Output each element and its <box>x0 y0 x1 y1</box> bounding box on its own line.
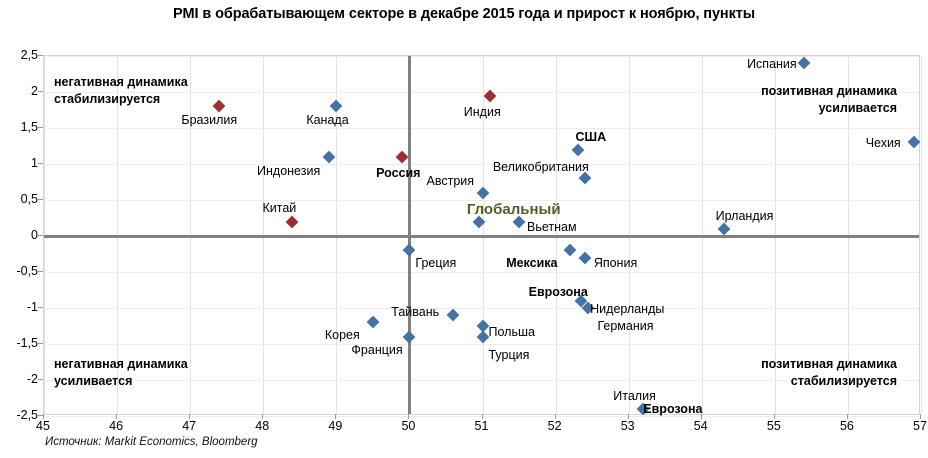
data-point-label: Китай <box>262 202 296 215</box>
x-axis-tick-mark <box>847 414 848 419</box>
data-point-label: Франция <box>351 344 402 357</box>
y-axis-tick-mark <box>38 199 43 200</box>
data-point-label: Великобритания <box>493 161 589 174</box>
data-point-label: Тайвань <box>391 306 439 319</box>
data-point-label: США <box>576 131 607 144</box>
horizontal-reference-line-zero <box>44 235 919 238</box>
y-axis-tick-label: 2,5 <box>0 48 38 62</box>
y-axis-tick-mark <box>38 271 43 272</box>
quad-top-left-line2: стабилизируется <box>54 91 188 108</box>
y-axis-tick-label: 1,5 <box>0 120 38 134</box>
y-axis-tick-mark <box>38 343 43 344</box>
data-point-label: Еврозона <box>643 403 702 416</box>
x-axis-tick-label: 45 <box>36 419 50 433</box>
x-axis-tick-label: 56 <box>840 419 854 433</box>
data-point-label: Польша <box>489 326 535 339</box>
data-point-label: Нидерланды <box>590 303 664 316</box>
quad-bottom-left-line2: усиливается <box>54 373 188 390</box>
x-axis-tick-mark <box>43 414 44 419</box>
data-point-label: Австрия <box>427 175 475 188</box>
data-point-label: Индонезия <box>257 165 320 178</box>
y-axis-tick-label: -0,5 <box>0 264 38 278</box>
x-axis-tick-label: 52 <box>548 419 562 433</box>
data-point-label: Мексика <box>506 257 557 270</box>
data-point-label-eurozone: Еврозона <box>529 286 588 299</box>
data-point-label: Чехия <box>866 137 901 150</box>
x-axis-tick-label: 53 <box>621 419 635 433</box>
data-point-label: Германия <box>597 320 653 333</box>
quad-bottom-right-line2: стабилизируется <box>761 373 897 390</box>
data-point-label: Ирландия <box>716 210 774 223</box>
y-axis-tick-mark <box>38 127 43 128</box>
x-axis-tick-mark <box>262 414 263 419</box>
x-axis-tick-mark <box>335 414 336 419</box>
data-point-label: Бразилия <box>181 114 237 127</box>
y-axis-tick-mark <box>38 307 43 308</box>
data-point-label: Индия <box>464 106 501 119</box>
quad-top-right: позитивная динамикаусиливается <box>761 83 897 117</box>
x-axis-tick-mark <box>408 414 409 419</box>
data-point-label: Испания <box>747 58 797 71</box>
quad-bottom-right: позитивная динамикастабилизируется <box>761 356 897 390</box>
y-axis-tick-label: 0 <box>0 228 38 242</box>
x-axis-tick-label: 49 <box>328 419 342 433</box>
data-point-label: Италия <box>613 390 656 403</box>
y-axis-tick-mark <box>38 163 43 164</box>
data-point-label: Япония <box>594 257 637 270</box>
y-axis-tick-label: -2 <box>0 372 38 386</box>
x-axis-tick-label: 54 <box>694 419 708 433</box>
x-axis-tick-label: 55 <box>767 419 781 433</box>
y-axis-tick-label: -1 <box>0 300 38 314</box>
data-point-label: Россия <box>376 167 420 180</box>
data-point-label: Турция <box>489 349 530 362</box>
x-axis-tick-label: 51 <box>475 419 489 433</box>
quad-top-right-line1: позитивная динамика <box>761 83 897 100</box>
y-axis-tick-mark <box>38 235 43 236</box>
data-point-label: Вьетнам <box>527 221 577 234</box>
x-axis-tick-mark <box>189 414 190 419</box>
quad-bottom-left-line1: негативная динамика <box>54 356 188 373</box>
x-axis-tick-mark <box>628 414 629 419</box>
x-axis-tick-mark <box>482 414 483 419</box>
x-axis-tick-label: 48 <box>255 419 269 433</box>
quad-top-left-line1: негативная динамика <box>54 74 188 91</box>
data-point-label: Корея <box>325 329 360 342</box>
data-point-label: Греция <box>415 257 456 270</box>
quad-top-left: негативная динамикастабилизируется <box>54 74 188 108</box>
y-axis-tick-label: 0,5 <box>0 192 38 206</box>
y-axis-tick-mark <box>38 55 43 56</box>
quad-bottom-left: негативная динамикаусиливается <box>54 356 188 390</box>
y-axis-tick-mark <box>38 379 43 380</box>
x-axis-tick-mark <box>555 414 556 419</box>
x-axis-tick-label: 50 <box>401 419 415 433</box>
data-point-label: Канада <box>306 114 348 127</box>
y-axis-tick-label: 2 <box>0 84 38 98</box>
x-axis-tick-mark <box>774 414 775 419</box>
quad-top-right-line2: усиливается <box>761 100 897 117</box>
source-note: Источник: Markit Economics, Bloomberg <box>45 436 258 448</box>
x-axis-tick-mark <box>116 414 117 419</box>
y-axis-tick-label: 1 <box>0 156 38 170</box>
x-axis-tick-label: 46 <box>109 419 123 433</box>
y-axis-tick-mark <box>38 91 43 92</box>
y-axis-tick-label: -2,5 <box>0 408 38 422</box>
x-axis-tick-mark <box>920 414 921 419</box>
data-point-label: Глобальный <box>467 202 561 217</box>
x-axis-tick-label: 47 <box>182 419 196 433</box>
quad-bottom-right-line1: позитивная динамика <box>761 356 897 373</box>
x-axis-tick-label: 57 <box>913 419 927 433</box>
y-axis-tick-label: -1,5 <box>0 336 38 350</box>
